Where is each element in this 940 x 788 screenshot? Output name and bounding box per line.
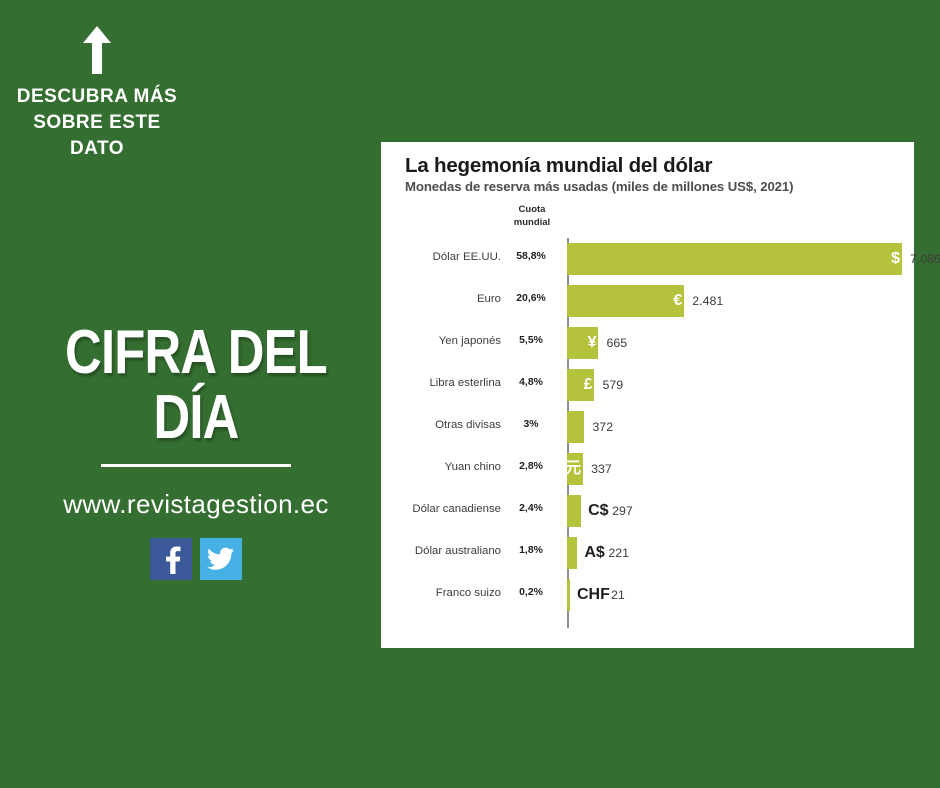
chart-row: Franco suizo0,2%CHF21 bbox=[381, 574, 914, 616]
chart-bar bbox=[567, 579, 570, 611]
chart-row-share: 58,8% bbox=[507, 251, 555, 262]
chart-row: Yen japonés5,5%¥665 bbox=[381, 322, 914, 364]
chart-row-label: Yen japonés bbox=[389, 335, 501, 347]
discover-more-text: DESCUBRA MÁS SOBRE ESTE DATO bbox=[12, 84, 182, 163]
twitter-glyph bbox=[207, 547, 235, 571]
chart-bar bbox=[567, 285, 684, 317]
chart-row-bar-area: 372 bbox=[567, 411, 908, 443]
discover-line-2: SOBRE ESTE bbox=[12, 110, 182, 136]
chart-row-label: Otras divisas bbox=[389, 419, 501, 431]
social-links bbox=[0, 538, 392, 580]
chart-bar-value: 337 bbox=[591, 453, 612, 485]
chart-row: Dólar australiano1,8%A$221 bbox=[381, 532, 914, 574]
currency-symbol: CHF bbox=[577, 579, 610, 611]
chart-row: Dólar canadiense2,4%C$297 bbox=[381, 490, 914, 532]
brand-divider bbox=[101, 464, 291, 467]
brand-title: CIFRA DEL DÍA bbox=[35, 320, 356, 450]
chart-bar-value: 2.481 bbox=[692, 285, 723, 317]
chart-row: Otras divisas3%372 bbox=[381, 406, 914, 448]
currency-symbol: A$ bbox=[584, 537, 604, 569]
column-header-line-2: mundial bbox=[501, 217, 563, 230]
chart-row-label: Yuan chino bbox=[389, 461, 501, 473]
chart-title: La hegemonía mundial del dólar bbox=[405, 154, 712, 178]
chart-card: La hegemonía mundial del dólar Monedas d… bbox=[381, 142, 914, 648]
bar-chart: Dólar EE.UU.58,8%$7.086Euro20,6%€2.481Ye… bbox=[381, 238, 914, 616]
chart-row: Euro20,6%€2.481 bbox=[381, 280, 914, 322]
chart-row-bar-area: CHF21 bbox=[567, 579, 908, 611]
chart-row-bar-area: $7.086 bbox=[567, 243, 908, 275]
facebook-glyph bbox=[158, 544, 184, 574]
chart-row-label: Dólar EE.UU. bbox=[389, 251, 501, 263]
chart-row-bar-area: £579 bbox=[567, 369, 908, 401]
facebook-icon[interactable] bbox=[150, 538, 192, 580]
chart-row-bar-area: C$297 bbox=[567, 495, 908, 527]
chart-row-bar-area: A$221 bbox=[567, 537, 908, 569]
website-url[interactable]: www.revistagestion.ec bbox=[0, 489, 392, 520]
discover-more-block: DESCUBRA MÁS SOBRE ESTE DATO bbox=[12, 26, 182, 163]
chart-row-share: 2,4% bbox=[507, 503, 555, 514]
chart-bar bbox=[567, 411, 584, 443]
chart-bar bbox=[567, 243, 902, 275]
chart-row: Yuan chino2,8%元337 bbox=[381, 448, 914, 490]
chart-bar bbox=[567, 495, 581, 527]
currency-symbol: 元 bbox=[565, 453, 581, 485]
chart-row-bar-area: €2.481 bbox=[567, 285, 908, 317]
chart-row-bar-area: 元337 bbox=[567, 453, 908, 485]
column-header-share: Cuota mundial bbox=[501, 204, 563, 230]
chart-row: Dólar EE.UU.58,8%$7.086 bbox=[381, 238, 914, 280]
discover-line-3: DATO bbox=[12, 136, 182, 162]
chart-bar-value: 372 bbox=[592, 411, 613, 443]
chart-row-share: 4,8% bbox=[507, 377, 555, 388]
infographic-canvas: DESCUBRA MÁS SOBRE ESTE DATO CIFRA DEL D… bbox=[0, 0, 940, 788]
twitter-icon[interactable] bbox=[200, 538, 242, 580]
chart-row-share: 0,2% bbox=[507, 587, 555, 598]
chart-row-bar-area: ¥665 bbox=[567, 327, 908, 359]
chart-row-share: 1,8% bbox=[507, 545, 555, 556]
chart-row-share: 3% bbox=[507, 419, 555, 430]
chart-row-share: 20,6% bbox=[507, 293, 555, 304]
chart-bar-value: 21 bbox=[611, 579, 625, 611]
chart-row-label: Dólar australiano bbox=[389, 545, 501, 557]
chart-bar-value: 579 bbox=[602, 369, 623, 401]
chart-subtitle: Monedas de reserva más usadas (miles de … bbox=[405, 179, 793, 194]
chart-bar-value: 7.086 bbox=[910, 243, 940, 275]
arrow-up-icon bbox=[80, 26, 114, 74]
brand-block: CIFRA DEL DÍA www.revistagestion.ec bbox=[0, 320, 392, 580]
chart-row-label: Euro bbox=[389, 293, 501, 305]
chart-bar bbox=[567, 537, 577, 569]
currency-symbol: $ bbox=[891, 243, 900, 275]
chart-row-label: Franco suizo bbox=[389, 587, 501, 599]
column-header-line-1: Cuota bbox=[501, 204, 563, 217]
currency-symbol: € bbox=[673, 285, 682, 317]
chart-row: Libra esterlina4,8%£579 bbox=[381, 364, 914, 406]
discover-line-1: DESCUBRA MÁS bbox=[12, 84, 182, 110]
chart-row-share: 5,5% bbox=[507, 335, 555, 346]
chart-bar-value: 665 bbox=[606, 327, 627, 359]
currency-symbol: ¥ bbox=[588, 327, 597, 359]
chart-row-label: Libra esterlina bbox=[389, 377, 501, 389]
chart-row-share: 2,8% bbox=[507, 461, 555, 472]
currency-symbol: £ bbox=[584, 369, 593, 401]
chart-bar-value: 221 bbox=[608, 537, 629, 569]
chart-row-label: Dólar canadiense bbox=[389, 503, 501, 515]
currency-symbol: C$ bbox=[588, 495, 608, 527]
chart-bar-value: 297 bbox=[612, 495, 633, 527]
